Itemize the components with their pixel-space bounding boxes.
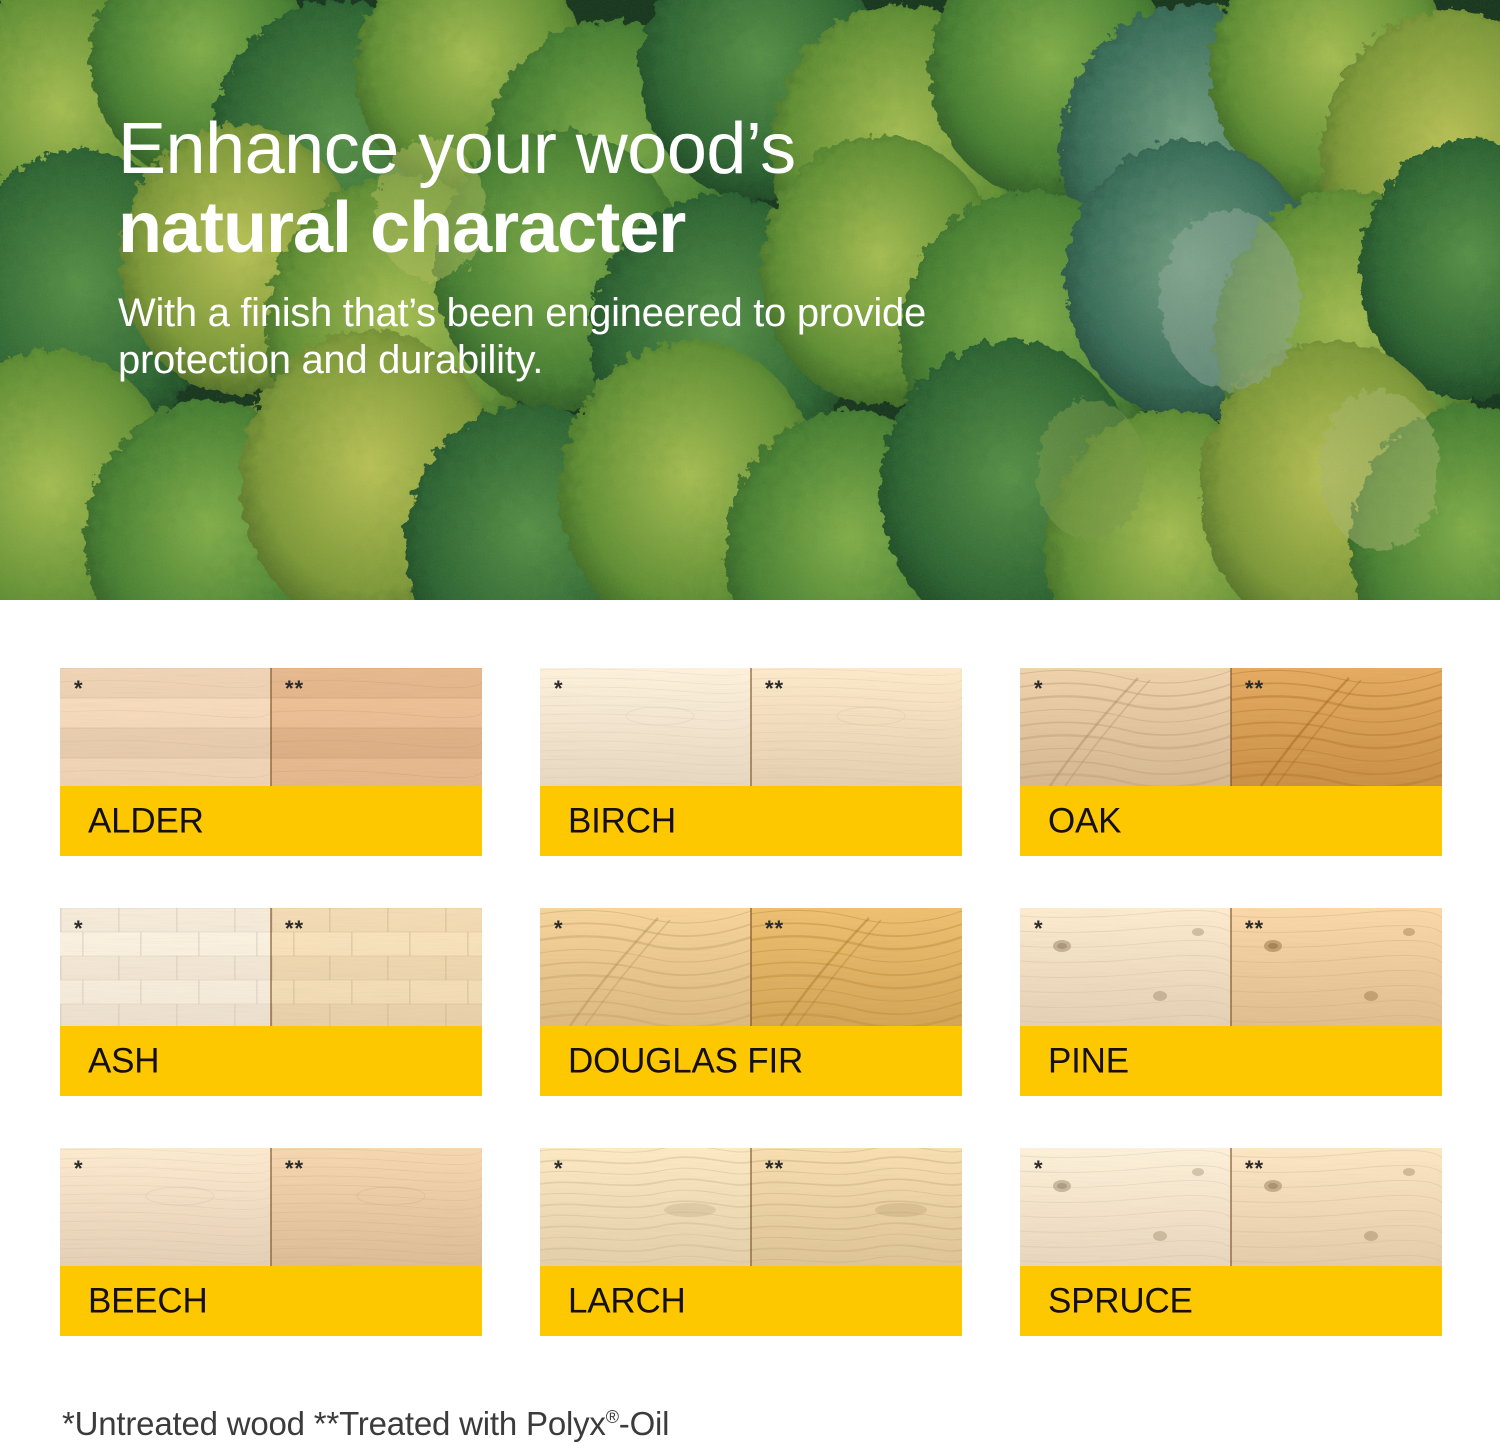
species-label: ALDER bbox=[88, 804, 204, 839]
wood-sample-image: * ** bbox=[1020, 908, 1442, 1026]
untreated-half: * bbox=[60, 668, 271, 786]
treated-marker: ** bbox=[285, 918, 304, 940]
species-label: LARCH bbox=[568, 1284, 686, 1319]
untreated-half: * bbox=[540, 1148, 751, 1266]
treated-marker: ** bbox=[1245, 1158, 1264, 1180]
treated-half: ** bbox=[1231, 908, 1442, 1026]
untreated-marker: * bbox=[554, 1158, 564, 1180]
species-label-bar: DOUGLAS FIR bbox=[540, 1026, 962, 1096]
wood-sample-image: * ** bbox=[1020, 668, 1442, 786]
footnote-text-before: *Untreated wood **Treated with Polyx bbox=[62, 1405, 606, 1442]
treated-marker: ** bbox=[765, 1158, 784, 1180]
wood-sample-card[interactable]: * ** OAK bbox=[1020, 668, 1442, 856]
wood-sample-card[interactable]: * ** ALDER bbox=[60, 668, 482, 856]
untreated-marker: * bbox=[74, 1158, 84, 1180]
untreated-half: * bbox=[1020, 908, 1231, 1026]
wood-sample-image: * ** bbox=[60, 1148, 482, 1266]
wood-sample-card[interactable]: * ** ASH bbox=[60, 908, 482, 1096]
species-label-bar: PINE bbox=[1020, 1026, 1442, 1096]
treated-half: ** bbox=[751, 1148, 962, 1266]
untreated-marker: * bbox=[74, 918, 84, 940]
sample-divider-line bbox=[750, 668, 752, 786]
treated-half: ** bbox=[1231, 1148, 1442, 1266]
untreated-marker: * bbox=[554, 918, 564, 940]
species-label-bar: OAK bbox=[1020, 786, 1442, 856]
hero-subheadline: With a finish that’s been engineered to … bbox=[118, 290, 1018, 384]
untreated-marker: * bbox=[554, 678, 564, 700]
treated-half: ** bbox=[751, 908, 962, 1026]
treated-marker: ** bbox=[285, 1158, 304, 1180]
wood-sample-card[interactable]: * ** DOUGLAS FIR bbox=[540, 908, 962, 1096]
wood-sample-card[interactable]: * ** SPRUCE bbox=[1020, 1148, 1442, 1336]
footnote-text-after: -Oil bbox=[619, 1405, 670, 1442]
treated-half: ** bbox=[271, 908, 482, 1026]
treated-half: ** bbox=[1231, 668, 1442, 786]
wood-sample-card[interactable]: * ** PINE bbox=[1020, 908, 1442, 1096]
wood-sample-image: * ** bbox=[540, 908, 962, 1026]
treated-half: ** bbox=[271, 1148, 482, 1266]
registered-trademark-icon: ® bbox=[606, 1407, 619, 1427]
species-label-bar: SPRUCE bbox=[1020, 1266, 1442, 1336]
sample-divider-line bbox=[1230, 908, 1232, 1026]
untreated-half: * bbox=[540, 668, 751, 786]
treated-half: ** bbox=[271, 668, 482, 786]
wood-sample-image: * ** bbox=[1020, 1148, 1442, 1266]
wood-species-grid: * ** ALDER bbox=[60, 668, 1442, 1336]
species-label: BEECH bbox=[88, 1284, 208, 1319]
species-label: BIRCH bbox=[568, 804, 676, 839]
sample-divider-line bbox=[1230, 1148, 1232, 1266]
species-label-bar: LARCH bbox=[540, 1266, 962, 1336]
untreated-marker: * bbox=[1034, 1158, 1044, 1180]
treated-marker: ** bbox=[765, 918, 784, 940]
untreated-half: * bbox=[1020, 668, 1231, 786]
treated-marker: ** bbox=[285, 678, 304, 700]
untreated-half: * bbox=[60, 1148, 271, 1266]
wood-sample-card[interactable]: * ** BEECH bbox=[60, 1148, 482, 1336]
untreated-marker: * bbox=[1034, 918, 1044, 940]
wood-sample-card[interactable]: * ** LARCH bbox=[540, 1148, 962, 1336]
species-label-bar: ASH bbox=[60, 1026, 482, 1096]
sample-divider-line bbox=[1230, 668, 1232, 786]
wood-sample-image: * ** bbox=[60, 908, 482, 1026]
headline-line-2: natural character bbox=[118, 188, 1068, 268]
species-label: ASH bbox=[88, 1044, 159, 1079]
wood-sample-card[interactable]: * ** BIRCH bbox=[540, 668, 962, 856]
sample-divider-line bbox=[270, 1148, 272, 1266]
sample-divider-line bbox=[270, 668, 272, 786]
species-label: SPRUCE bbox=[1048, 1284, 1193, 1319]
sample-divider-line bbox=[750, 908, 752, 1026]
treated-marker: ** bbox=[1245, 918, 1264, 940]
species-label: PINE bbox=[1048, 1044, 1129, 1079]
treated-marker: ** bbox=[1245, 678, 1264, 700]
sample-divider-line bbox=[270, 908, 272, 1026]
species-label-bar: BIRCH bbox=[540, 786, 962, 856]
untreated-half: * bbox=[60, 908, 271, 1026]
species-label: OAK bbox=[1048, 804, 1121, 839]
treated-half: ** bbox=[751, 668, 962, 786]
species-label-bar: BEECH bbox=[60, 1266, 482, 1336]
wood-sample-image: * ** bbox=[540, 1148, 962, 1266]
sample-divider-line bbox=[750, 1148, 752, 1266]
headline-line-1: Enhance your wood’s bbox=[118, 110, 1068, 188]
untreated-marker: * bbox=[1034, 678, 1044, 700]
untreated-marker: * bbox=[74, 678, 84, 700]
wood-sample-image: * ** bbox=[540, 668, 962, 786]
species-label-bar: ALDER bbox=[60, 786, 482, 856]
legend-footnote: *Untreated wood **Treated with Polyx®-Oi… bbox=[62, 1398, 669, 1443]
untreated-half: * bbox=[540, 908, 751, 1026]
wood-sample-image: * ** bbox=[60, 668, 482, 786]
species-label: DOUGLAS FIR bbox=[568, 1044, 803, 1079]
hero-banner: Enhance your wood’s natural character Wi… bbox=[0, 0, 1500, 600]
hero-copy: Enhance your wood’s natural character Wi… bbox=[118, 110, 1068, 384]
untreated-half: * bbox=[1020, 1148, 1231, 1266]
treated-marker: ** bbox=[765, 678, 784, 700]
